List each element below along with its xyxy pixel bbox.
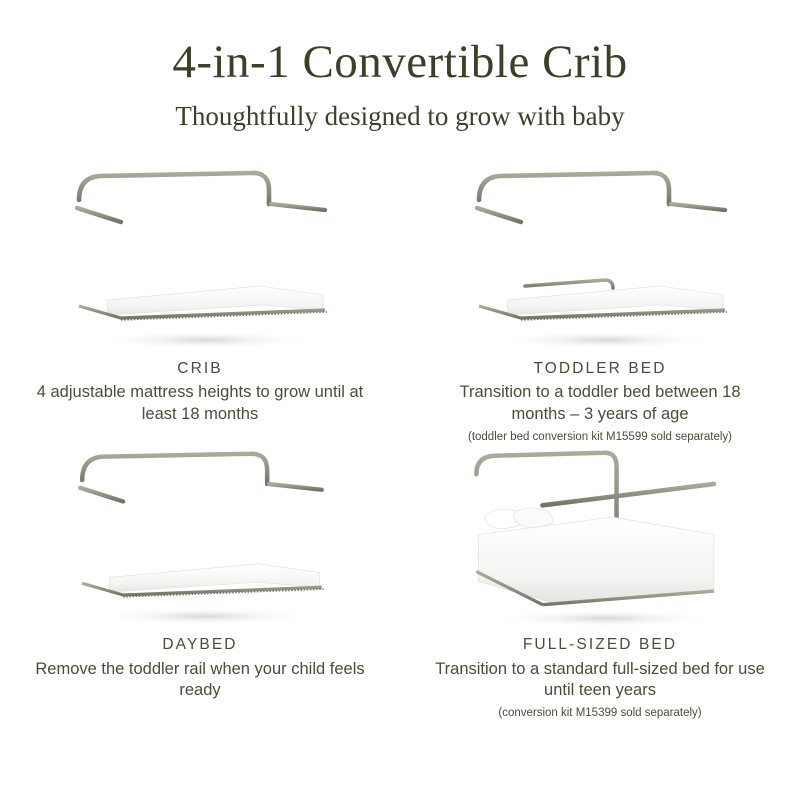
back-panel-spindles [79, 172, 269, 305]
crib-illustration [55, 164, 345, 354]
infographic-page: 4-in-1 Convertible Crib Thoughtfully des… [0, 0, 800, 800]
caption-fine-print: (conversion kit M15399 sold separately) [435, 706, 765, 721]
panel-full-sized-bed: FULL-SIZED BED Transition to a standard … [400, 445, 800, 721]
floor-shadow [495, 331, 715, 349]
caption-crib: CRIB 4 adjustable mattress heights to gr… [35, 360, 365, 426]
back-top-rail [79, 172, 269, 203]
back-panel-spindles [479, 172, 669, 305]
right-end-panel [671, 204, 725, 314]
full-sized-bed-illustration [455, 445, 745, 630]
daybed-illustration [55, 445, 345, 630]
footboard-top-rail [543, 484, 714, 505]
panel-daybed: DAYBED Remove the toddler rail when your… [0, 445, 400, 721]
toddler-bed-illustration [455, 164, 745, 354]
caption-body: Remove the toddler rail when your child … [35, 659, 365, 703]
caption-label: DAYBED [35, 636, 365, 655]
page-subtitle: Thoughtfully designed to grow with baby [0, 102, 800, 132]
caption-body: 4 adjustable mattress heights to grow un… [35, 382, 365, 426]
caption-body: Transition to a toddler bed between 18 m… [435, 382, 765, 426]
caption-full-sized-bed: FULL-SIZED BED Transition to a standard … [435, 636, 765, 721]
right-end-panel [271, 204, 325, 314]
floor-shadow [98, 608, 312, 626]
panel-toddler-bed: TODDLER BED Transition to a toddler bed … [400, 164, 800, 445]
caption-fine-print: (toddler bed conversion kit M15599 sold … [435, 430, 765, 445]
configuration-grid: CRIB 4 adjustable mattress heights to gr… [0, 164, 800, 722]
caption-daybed: DAYBED Remove the toddler rail when your… [35, 636, 365, 702]
back-panel-spindles [82, 454, 267, 584]
caption-label: FULL-SIZED BED [435, 636, 765, 655]
panel-crib: CRIB 4 adjustable mattress heights to gr… [0, 164, 400, 445]
caption-label: CRIB [35, 360, 365, 379]
caption-body: Transition to a standard full-sized bed … [435, 659, 765, 703]
right-end-panel [269, 484, 322, 591]
caption-label: TODDLER BED [435, 360, 765, 379]
floor-shadow [95, 331, 315, 349]
caption-toddler-bed: TODDLER BED Transition to a toddler bed … [435, 360, 765, 445]
floor-shadow [493, 609, 717, 627]
header: 4-in-1 Convertible Crib Thoughtfully des… [0, 0, 800, 132]
page-title: 4-in-1 Convertible Crib [0, 38, 800, 88]
